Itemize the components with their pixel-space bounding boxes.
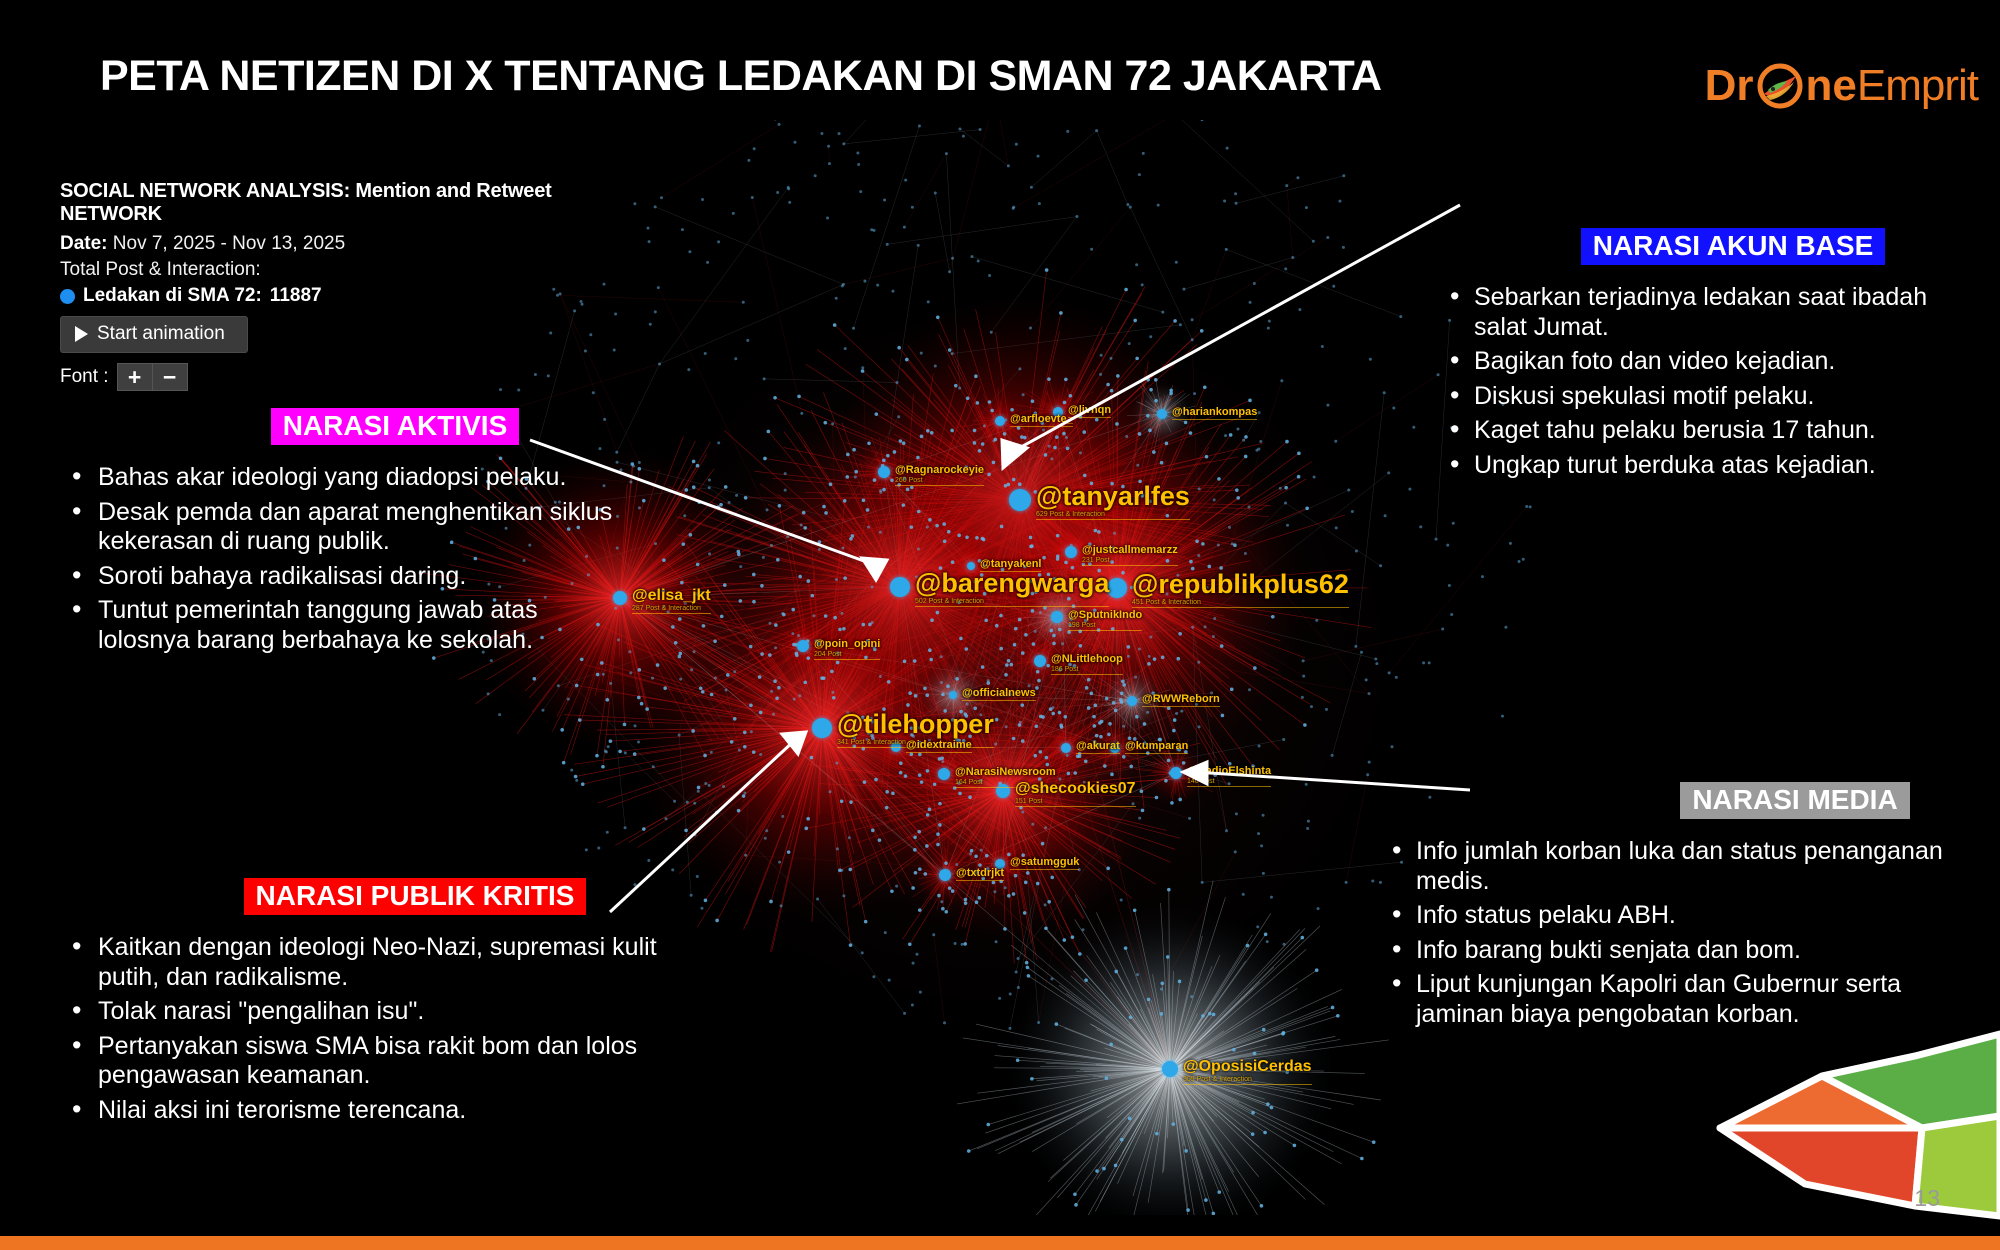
graph-node-label[interactable]: @satumgguk: [1010, 857, 1079, 870]
list-item: Tuntut pemerintah tanggung jawab atas lo…: [60, 596, 620, 655]
list-item: Desak pemda dan aparat menghentikan sikl…: [60, 498, 620, 557]
list-item: Nilai aksi ini terorisme terencana.: [60, 1096, 660, 1126]
graph-node-label[interactable]: @kumparan: [1125, 741, 1188, 754]
font-label: Font :: [60, 366, 109, 388]
list-item: Bahas akar ideologi yang diadopsi pelaku…: [60, 463, 620, 493]
graph-node-label[interactable]: @idextraime: [906, 740, 972, 753]
bottom-accent-bar: [0, 1236, 2000, 1250]
metric-value: 11887: [270, 285, 322, 307]
graph-node-label[interactable]: @RadioElshinta140 Post: [1187, 766, 1271, 787]
narrative-list-aktivis: Bahas akar ideologi yang diadopsi pelaku…: [60, 463, 620, 655]
graph-node-label[interactable]: @elisa_jkt287 Post & Interaction: [632, 588, 711, 614]
graph-node-dot[interactable]: [1051, 611, 1063, 623]
narrative-block-aktivis: NARASI AKTIVIS Bahas akar ideologi yang …: [60, 408, 620, 660]
graph-node-sublabel: 502 Post & Interaction: [915, 597, 1109, 605]
logo-text-ne: ne: [1806, 64, 1857, 108]
page-number: 13: [1914, 1185, 1940, 1212]
graph-node-sublabel: 151 Post: [1015, 797, 1136, 805]
graph-node-label[interactable]: @shecookies07151 Post: [1015, 781, 1136, 807]
list-item: Diskusi spekulasi motif pelaku.: [1438, 382, 1968, 412]
legend-dot-icon: [60, 289, 75, 304]
narrative-list-media: Info jumlah korban luka dan status penan…: [1380, 837, 1980, 1029]
narrative-list-publik-kritis: Kaitkan dengan ideologi Neo-Nazi, suprem…: [60, 933, 660, 1125]
list-item: Info jumlah korban luka dan status penan…: [1380, 837, 1980, 896]
graph-node-sublabel: 309 Post & Interaction: [1183, 1075, 1312, 1083]
graph-node-label[interactable]: @poin_opini204 Post: [814, 639, 880, 660]
graph-node-label[interactable]: @SputnikIndo198 Post: [1068, 610, 1142, 631]
play-icon: [75, 326, 88, 342]
info-panel: SOCIAL NETWORK ANALYSIS: Mention and Ret…: [60, 180, 620, 391]
graph-node-dot[interactable]: [797, 640, 809, 652]
graph-node-label[interactable]: @Ragnarockeyie260 Post: [895, 465, 984, 486]
list-item: Soroti bahaya radikalisasi daring.: [60, 562, 620, 592]
graph-node-sublabel: 231 Post: [1082, 556, 1178, 564]
metric-row: Ledakan di SMA 72: 11887: [60, 285, 620, 307]
graph-node-label[interactable]: @akurat: [1076, 741, 1120, 754]
graph-node-label[interactable]: @tanyakenl: [980, 559, 1041, 572]
narrative-block-akun-base: NARASI AKUN BASE Sebarkan terjadinya led…: [1438, 228, 1968, 485]
metric-label: Ledakan di SMA 72:: [83, 285, 262, 307]
narrative-list-akun-base: Sebarkan terjadinya ledakan saat ibadah …: [1438, 283, 1968, 480]
list-item: Info status pelaku ABH.: [1380, 901, 1980, 931]
narrative-heading-media: NARASI MEDIA: [1680, 782, 1909, 819]
graph-node-sublabel: 204 Post: [814, 650, 880, 658]
graph-node-label[interactable]: @arfloevte_: [1010, 414, 1073, 427]
analysis-title: SOCIAL NETWORK ANALYSIS: Mention and Ret…: [60, 180, 620, 226]
logo-text-emprit: Emprit: [1857, 64, 1978, 108]
list-item: Info barang bukti senjata dan bom.: [1380, 936, 1980, 966]
graph-node-dot[interactable]: [1157, 409, 1167, 419]
list-item: Sebarkan terjadinya ledakan saat ibadah …: [1438, 283, 1968, 342]
graph-node-dot[interactable]: [938, 768, 950, 780]
date-row: Date: Nov 7, 2025 - Nov 13, 2025: [60, 233, 620, 255]
narrative-heading-akun-base: NARASI AKUN BASE: [1581, 228, 1886, 265]
narrative-heading-wrap: NARASI AKUN BASE: [1438, 228, 1968, 265]
narrative-heading-publik-kritis: NARASI PUBLIK KRITIS: [244, 878, 587, 915]
graph-node-label[interactable]: @OposisiCerdas309 Post & Interaction: [1183, 1059, 1312, 1085]
drone-bird-circle-icon: [1754, 60, 1806, 112]
narrative-block-publik-kritis: NARASI PUBLIK KRITIS Kaitkan dengan ideo…: [60, 878, 660, 1130]
graph-node-label[interactable]: @livnqn: [1068, 405, 1111, 418]
graph-node-label[interactable]: @tanyarlfes629 Post & Interaction: [1036, 483, 1190, 520]
date-value: Nov 7, 2025 - Nov 13, 2025: [113, 233, 345, 254]
graph-node-sublabel: 140 Post: [1187, 777, 1271, 785]
brand-logo: Dr ne Emprit: [1705, 58, 1978, 114]
font-increase-button[interactable]: +: [117, 363, 152, 391]
graph-node-label[interactable]: @hariankompas: [1172, 407, 1257, 420]
graph-node-dot[interactable]: [939, 869, 951, 881]
graph-node-sublabel: 287 Post & Interaction: [632, 604, 711, 612]
graph-node-dot[interactable]: [878, 466, 890, 478]
total-label: Total Post & Interaction:: [60, 259, 620, 281]
graph-node-sublabel: 260 Post: [895, 476, 984, 484]
graph-node-label[interactable]: @NLittlehoop186 Post: [1051, 654, 1123, 675]
graph-node-dot[interactable]: [1061, 743, 1071, 753]
list-item: Kaitkan dengan ideologi Neo-Nazi, suprem…: [60, 933, 660, 992]
narrative-heading-wrap: NARASI AKTIVIS: [60, 408, 620, 445]
graph-node-dot[interactable]: [1009, 489, 1031, 511]
font-button-group: + −: [117, 363, 188, 391]
font-size-controls: Font : + −: [60, 363, 620, 391]
graph-node-dot[interactable]: [995, 416, 1005, 426]
corner-fan-decoration: [1710, 1016, 2000, 1236]
start-animation-label: Start animation: [97, 323, 225, 345]
graph-node-label[interactable]: @RWWReborn: [1142, 694, 1220, 707]
graph-node-label[interactable]: @republikplus62451 Post & Interaction: [1132, 571, 1349, 608]
graph-node-dot[interactable]: [1034, 655, 1046, 667]
narrative-heading-aktivis: NARASI AKTIVIS: [271, 408, 520, 445]
narrative-block-media: NARASI MEDIA Info jumlah korban luka dan…: [1380, 782, 1980, 1034]
start-animation-button[interactable]: Start animation: [60, 316, 248, 353]
graph-node-label[interactable]: @txtdrjkt: [956, 868, 1004, 881]
graph-node-label[interactable]: @barengwarga502 Post & Interaction: [915, 570, 1109, 607]
graph-node-dot[interactable]: [1065, 546, 1077, 558]
page-title: PETA NETIZEN DI X TENTANG LEDAKAN DI SMA…: [100, 52, 1620, 101]
graph-node-dot[interactable]: [890, 577, 910, 597]
graph-node-dot[interactable]: [1162, 1061, 1178, 1077]
graph-node-dot[interactable]: [812, 718, 832, 738]
graph-node-label[interactable]: @officialnews: [962, 688, 1036, 701]
list-item: Bagikan foto dan video kejadian.: [1438, 347, 1968, 377]
list-item: Tolak narasi "pengalihan isu".: [60, 997, 660, 1027]
graph-node-sublabel: 451 Post & Interaction: [1132, 598, 1349, 606]
graph-node-sublabel: 629 Post & Interaction: [1036, 510, 1190, 518]
list-item: Kaget tahu pelaku berusia 17 tahun.: [1438, 416, 1968, 446]
font-decrease-button[interactable]: −: [152, 363, 188, 391]
graph-node-dot[interactable]: [949, 691, 957, 699]
date-label: Date:: [60, 233, 108, 254]
graph-node-dot[interactable]: [1127, 696, 1137, 706]
graph-node-sublabel: 198 Post: [1068, 621, 1142, 629]
graph-node-dot[interactable]: [1170, 767, 1182, 779]
narrative-heading-wrap: NARASI MEDIA: [1380, 782, 1980, 819]
graph-node-sublabel: 186 Post: [1051, 665, 1123, 673]
graph-node-dot[interactable]: [1107, 578, 1127, 598]
list-item: Ungkap turut berduka atas kejadian.: [1438, 451, 1968, 481]
graph-node-label[interactable]: @justcallmemarzz231 Post: [1082, 545, 1178, 566]
narrative-heading-wrap: NARASI PUBLIK KRITIS: [60, 878, 660, 915]
list-item: Pertanyakan siswa SMA bisa rakit bom dan…: [60, 1032, 660, 1091]
logo-text-dr: Dr: [1705, 64, 1754, 108]
